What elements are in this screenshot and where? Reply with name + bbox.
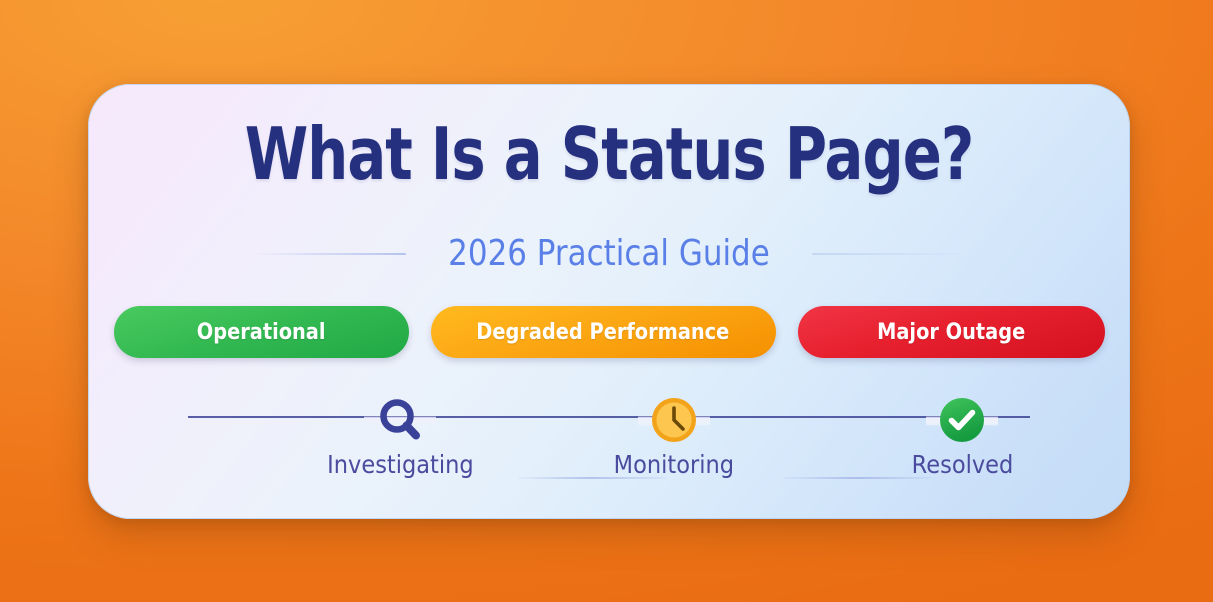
status-badge-operational-label: Operational xyxy=(197,320,326,345)
timeline-step-monitoring[interactable]: Monitoring xyxy=(604,394,744,477)
timeline-step-investigating-label: Investigating xyxy=(327,452,474,477)
page-title: What Is a Status Page? xyxy=(192,118,1026,190)
status-page-card: What Is a Status Page? 2026 Practical Gu… xyxy=(88,84,1130,519)
clock-icon xyxy=(650,396,698,444)
timeline-step-investigating-icon-wrap xyxy=(374,394,426,446)
poster-canvas: What Is a Status Page? 2026 Practical Gu… xyxy=(0,0,1213,602)
timeline-step-monitoring-icon-wrap xyxy=(648,394,700,446)
timeline-step-resolved-icon-wrap xyxy=(936,394,988,446)
status-badge-major-outage-label: Major Outage xyxy=(877,320,1025,345)
magnifier-icon xyxy=(377,397,423,443)
page-subtitle: 2026 Practical Guide xyxy=(448,236,770,272)
timeline-connector-monitoring-resolved xyxy=(783,477,931,479)
status-badge-group: Operational Degraded Performance Major O… xyxy=(88,306,1130,358)
status-badge-operational[interactable]: Operational xyxy=(114,306,409,358)
status-badge-degraded-performance[interactable]: Degraded Performance xyxy=(431,306,776,358)
timeline-step-resolved[interactable]: Resolved xyxy=(892,394,1032,477)
status-badge-major-outage[interactable]: Major Outage xyxy=(798,306,1105,358)
timeline-step-investigating[interactable]: Investigating xyxy=(330,394,470,477)
timeline-step-monitoring-label: Monitoring xyxy=(614,452,734,477)
subtitle-row: 2026 Practical Guide xyxy=(88,232,1130,276)
timeline-step-resolved-label: Resolved xyxy=(911,452,1013,477)
incident-timeline: Investigating Monitoring xyxy=(188,394,1030,499)
status-badge-degraded-performance-label: Degraded Performance xyxy=(476,320,729,345)
subtitle-rule-left xyxy=(256,253,406,255)
subtitle-rule-right xyxy=(812,253,962,255)
check-circle-icon xyxy=(938,396,986,444)
